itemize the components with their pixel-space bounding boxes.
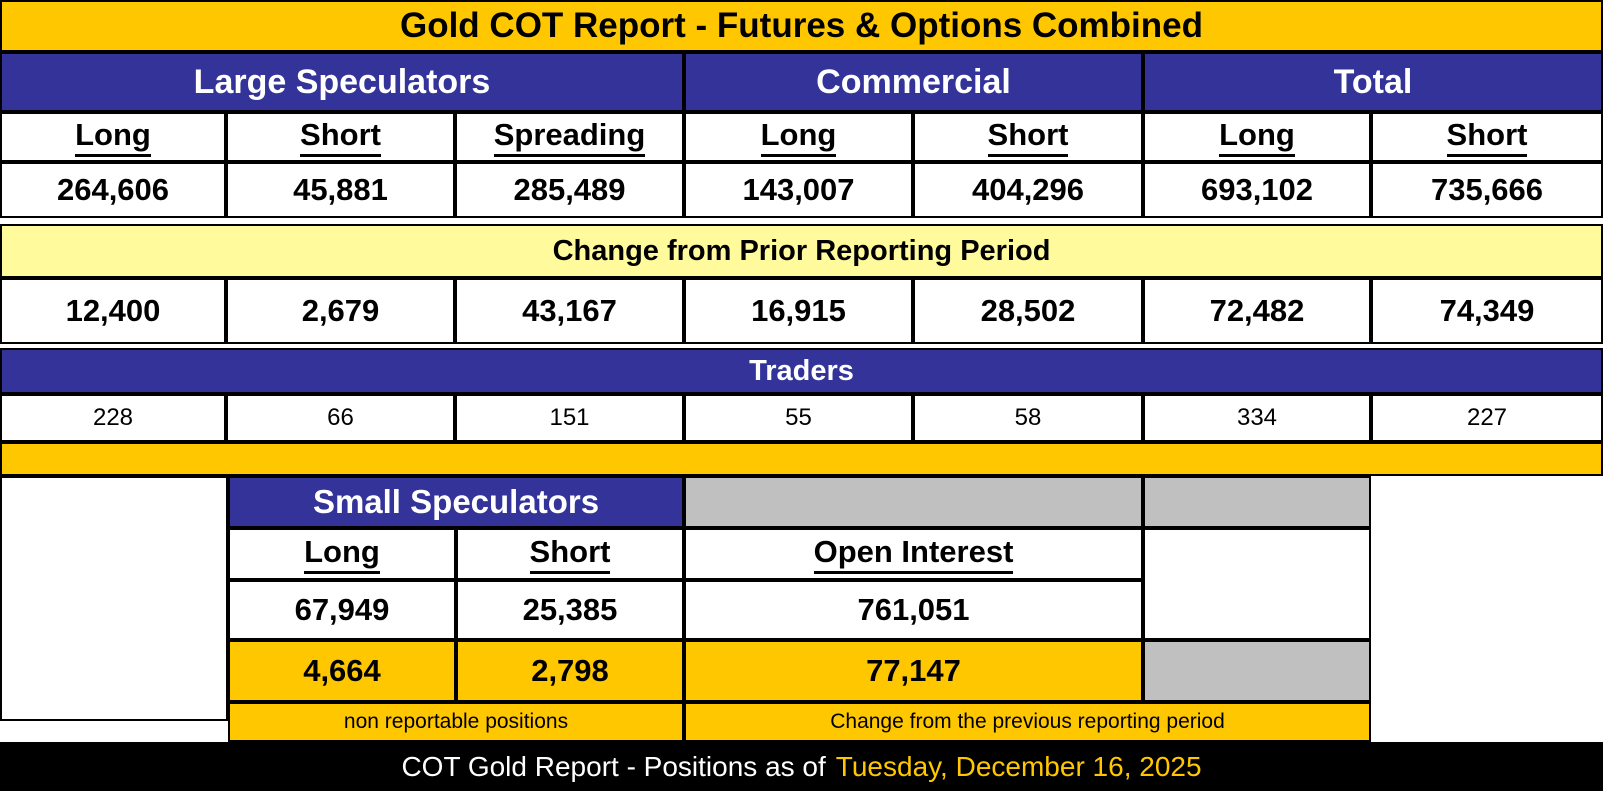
- column-header-com-long-text: Long: [761, 117, 837, 157]
- position-value-ls-spreading: 285,489: [455, 162, 684, 218]
- traders-value-com-short: 58: [913, 394, 1143, 442]
- small-spec-blank-right-upper: [1143, 528, 1371, 640]
- small-spec-grey-block-b: [1143, 476, 1371, 528]
- position-value-total-long: 693,102: [1143, 162, 1371, 218]
- column-header-com-short-text: Short: [988, 117, 1069, 157]
- small-spec-value-long: 67,949: [228, 580, 456, 640]
- footer-date: Tuesday, December 16, 2025: [826, 751, 1202, 783]
- small-speculators-title: Small Speculators: [228, 476, 684, 528]
- column-header-com-long: Long: [684, 112, 913, 162]
- column-header-ls-long-text: Long: [75, 117, 151, 157]
- small-spec-change-open-interest: 77,147: [684, 640, 1143, 702]
- column-header-ls-spreading-text: Spreading: [494, 117, 646, 157]
- position-value-ls-short: 45,881: [226, 162, 455, 218]
- position-value-total-short: 735,666: [1371, 162, 1603, 218]
- traders-value-com-long: 55: [684, 394, 913, 442]
- change-value-total-short: 74,349: [1371, 278, 1603, 344]
- small-spec-header-open-interest: Open Interest: [684, 528, 1143, 580]
- traders-value-total-long: 334: [1143, 394, 1371, 442]
- report-title: Gold COT Report - Futures & Options Comb…: [0, 0, 1603, 52]
- small-spec-header-long: Long: [228, 528, 456, 580]
- small-spec-grey-block-a: [684, 476, 1143, 528]
- small-spec-header-open-interest-text: Open Interest: [814, 534, 1014, 574]
- traders-value-total-short: 227: [1371, 394, 1603, 442]
- traders-band-label: Traders: [0, 348, 1603, 394]
- small-spec-header-short: Short: [456, 528, 684, 580]
- small-spec-change-long: 4,664: [228, 640, 456, 702]
- change-band-label: Change from Prior Reporting Period: [0, 224, 1603, 278]
- column-header-ls-short-text: Short: [300, 117, 381, 157]
- cot-report-sheet: Gold COT Report - Futures & Options Comb…: [0, 0, 1603, 791]
- column-header-total-short-text: Short: [1447, 117, 1528, 157]
- change-value-ls-long: 12,400: [0, 278, 226, 344]
- small-spec-note-left: non reportable positions: [228, 702, 684, 742]
- gold-divider-band: [0, 442, 1603, 476]
- small-spec-change-short: 2,798: [456, 640, 684, 702]
- footer-text: COT Gold Report - Positions as of: [401, 751, 825, 783]
- change-value-ls-short: 2,679: [226, 278, 455, 344]
- column-header-com-short: Short: [913, 112, 1143, 162]
- small-spec-right-blank: [1371, 476, 1603, 742]
- change-value-com-long: 16,915: [684, 278, 913, 344]
- change-value-com-short: 28,502: [913, 278, 1143, 344]
- change-value-total-long: 72,482: [1143, 278, 1371, 344]
- group-header-commercial: Commercial: [684, 52, 1143, 112]
- small-spec-value-open-interest: 761,051: [684, 580, 1143, 640]
- position-value-com-long: 143,007: [684, 162, 913, 218]
- column-header-total-short: Short: [1371, 112, 1603, 162]
- group-header-large-speculators: Large Speculators: [0, 52, 684, 112]
- small-spec-header-long-text: Long: [304, 534, 380, 574]
- traders-value-ls-spreading: 151: [455, 394, 684, 442]
- column-header-total-long-text: Long: [1219, 117, 1295, 157]
- small-spec-header-short-text: Short: [530, 534, 611, 574]
- traders-value-ls-short: 66: [226, 394, 455, 442]
- small-spec-grey-block-c: [1143, 640, 1371, 702]
- column-header-total-long: Long: [1143, 112, 1371, 162]
- column-header-ls-long: Long: [0, 112, 226, 162]
- change-value-ls-spreading: 43,167: [455, 278, 684, 344]
- small-spec-left-blank: [0, 476, 228, 721]
- small-spec-value-short: 25,385: [456, 580, 684, 640]
- column-header-ls-short: Short: [226, 112, 455, 162]
- column-header-ls-spreading: Spreading: [455, 112, 684, 162]
- small-spec-note-right: Change from the previous reporting perio…: [684, 702, 1371, 742]
- group-header-total: Total: [1143, 52, 1603, 112]
- traders-value-ls-long: 228: [0, 394, 226, 442]
- report-footer: COT Gold Report - Positions as of Tuesda…: [0, 742, 1603, 791]
- position-value-com-short: 404,296: [913, 162, 1143, 218]
- position-value-ls-long: 264,606: [0, 162, 226, 218]
